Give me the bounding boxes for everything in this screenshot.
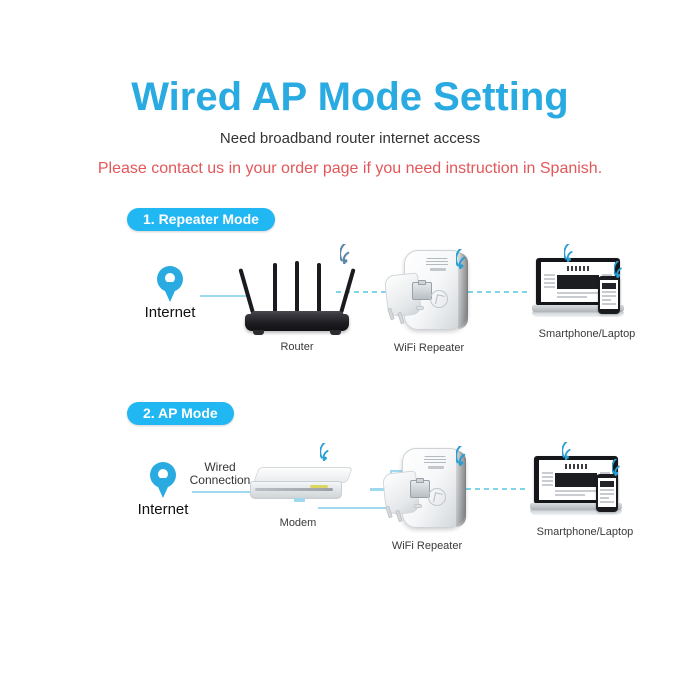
node-router: Router bbox=[245, 255, 349, 335]
wifi-signal-icon-modem bbox=[320, 443, 342, 461]
section-badge-repeater-mode: 1. Repeater Mode bbox=[127, 208, 275, 231]
section-badge-ap-mode: 2. AP Mode bbox=[127, 402, 234, 425]
wifi-signal-icon-laptop-2 bbox=[562, 442, 584, 460]
smartphone-icon bbox=[598, 276, 620, 314]
node-internet-ap-mode: Internet bbox=[150, 462, 176, 498]
node-clients-2: Smartphone/Laptop bbox=[530, 456, 622, 518]
link-repeater-clients bbox=[468, 291, 530, 293]
page-subtitle: Need broadband router internet access bbox=[0, 129, 700, 149]
node-label-clients: Smartphone/Laptop bbox=[507, 328, 667, 340]
wifi-signal-icon-repeater-1 bbox=[456, 249, 480, 269]
link-internet-router bbox=[200, 295, 248, 297]
node-label-wifi-repeater-2: WiFi Repeater bbox=[347, 540, 507, 552]
page-title: Wired AP Mode Setting bbox=[0, 73, 700, 121]
node-label-internet-2: Internet bbox=[83, 501, 243, 518]
link-internet-modem bbox=[192, 491, 254, 493]
infographic-canvas: Wired AP Mode Setting Need broadband rou… bbox=[0, 0, 700, 700]
wifi-signal-icon-laptop-1 bbox=[564, 244, 586, 262]
router-icon bbox=[245, 255, 349, 335]
link-repeater-clients-2 bbox=[466, 488, 528, 490]
node-modem: Modem bbox=[250, 467, 350, 509]
wifi-signal-icon-phone-1 bbox=[614, 261, 634, 278]
modem-icon bbox=[250, 467, 350, 509]
map-pin-icon bbox=[150, 462, 176, 498]
node-internet-repeater-mode: Internet bbox=[157, 266, 183, 302]
node-clients-1: Smartphone/Laptop bbox=[532, 258, 624, 320]
wifi-signal-icon-phone-2 bbox=[612, 459, 632, 476]
node-label-wifi-repeater: WiFi Repeater bbox=[349, 342, 509, 354]
wifi-signal-icon-router bbox=[340, 244, 364, 264]
node-label-internet: Internet bbox=[90, 304, 250, 321]
spanish-instruction-notice: Please contact us in your order page if … bbox=[0, 158, 700, 180]
smartphone-icon bbox=[596, 474, 618, 512]
wifi-signal-icon-repeater-2 bbox=[456, 446, 480, 466]
node-label-modem: Modem bbox=[218, 517, 378, 529]
map-pin-icon bbox=[157, 266, 183, 302]
node-label-clients-2: Smartphone/Laptop bbox=[505, 526, 665, 538]
